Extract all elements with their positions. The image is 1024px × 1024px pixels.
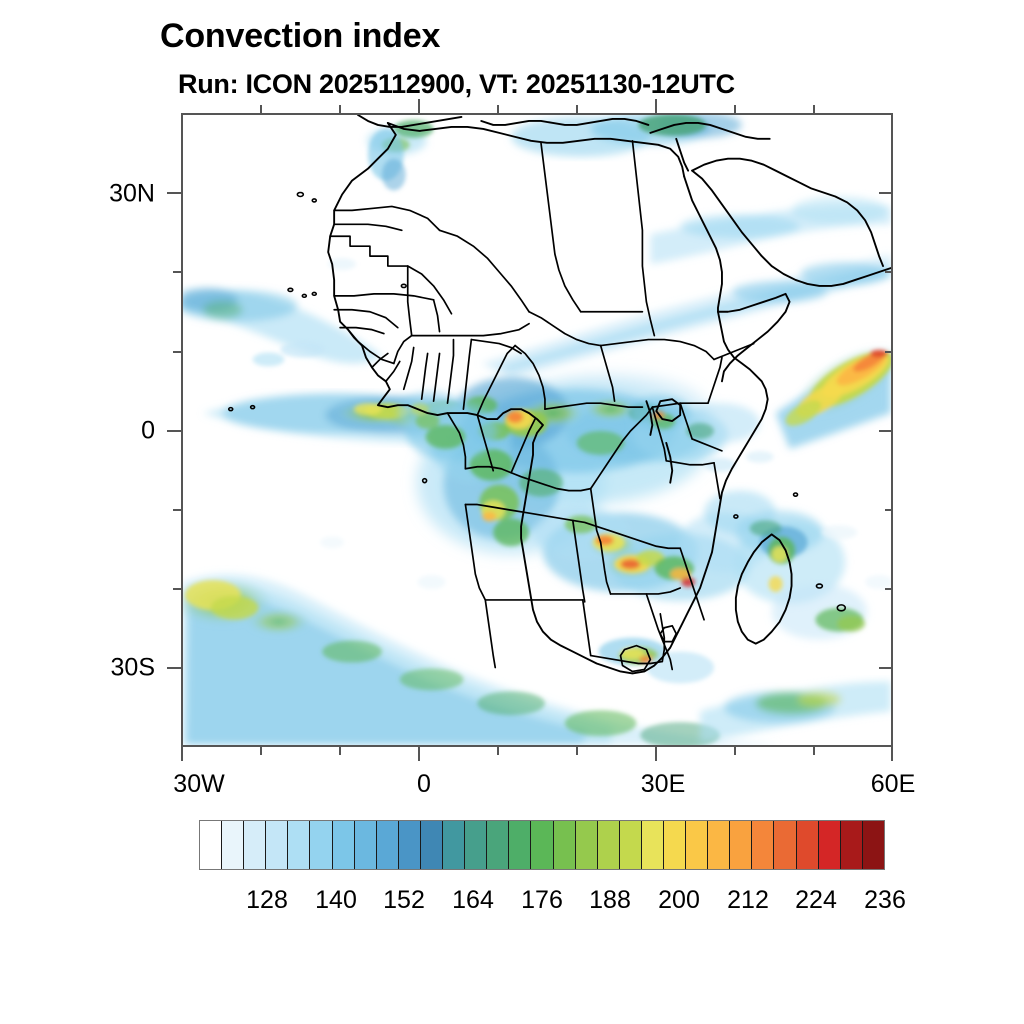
colorbar-cell-15 bbox=[531, 821, 553, 869]
colorbar-cell-21 bbox=[664, 821, 686, 869]
xtick-major-30W bbox=[181, 747, 183, 761]
xtick-minor-20E bbox=[576, 747, 578, 755]
xtick-minor-10W bbox=[339, 747, 341, 755]
colorbar-cell-28 bbox=[819, 821, 841, 869]
colorbar-label-152: 152 bbox=[383, 888, 425, 913]
colorbar-cell-7 bbox=[355, 821, 377, 869]
colorbar-label-224: 224 bbox=[795, 888, 837, 913]
xtick-top-10W bbox=[339, 105, 341, 113]
xaxis-label-30E: 30E bbox=[641, 772, 685, 797]
xtick-top-20E bbox=[576, 105, 578, 113]
ytick-right-10N bbox=[885, 351, 893, 353]
ytick-minor-20S bbox=[173, 588, 181, 590]
colorbar-cell-17 bbox=[576, 821, 598, 869]
page-subtitle: Run: ICON 2025112900, VT: 20251130-12UTC bbox=[178, 71, 735, 98]
yaxis-label-30N: 30N bbox=[40, 182, 155, 207]
colorbar-cell-23 bbox=[708, 821, 730, 869]
yaxis-label-0: 0 bbox=[40, 419, 155, 444]
yaxis-label-30S: 30S bbox=[40, 656, 155, 681]
colorbar-label-140: 140 bbox=[315, 888, 357, 913]
xaxis-label-60E: 60E bbox=[871, 772, 915, 797]
colorbar-cell-10 bbox=[421, 821, 443, 869]
colorbar-cell-0 bbox=[200, 821, 222, 869]
colorbar-cell-16 bbox=[554, 821, 576, 869]
ytick-right-20N bbox=[885, 271, 893, 273]
colorbar-cell-6 bbox=[333, 821, 355, 869]
colorbar-cell-26 bbox=[774, 821, 796, 869]
colorbar-label-128: 128 bbox=[246, 888, 288, 913]
figure-root: Convection index Run: ICON 2025112900, V… bbox=[0, 0, 1024, 1024]
ytick-right-20S bbox=[885, 588, 893, 590]
xtick-major-60E bbox=[891, 747, 893, 761]
colorbar-cell-22 bbox=[686, 821, 708, 869]
colorbar-cell-24 bbox=[730, 821, 752, 869]
colorbar-label-164: 164 bbox=[452, 888, 494, 913]
xtick-top-0 bbox=[418, 99, 420, 113]
colorbar-cell-18 bbox=[598, 821, 620, 869]
page-title: Convection index bbox=[160, 19, 440, 53]
colorbar-cell-19 bbox=[620, 821, 642, 869]
ytick-right-30S bbox=[879, 667, 893, 669]
ytick-minor-10S bbox=[173, 509, 181, 511]
colorbar-cell-14 bbox=[509, 821, 531, 869]
xtick-top-40E bbox=[734, 105, 736, 113]
ytick-minor-20N bbox=[173, 271, 181, 273]
xtick-minor-50E bbox=[813, 747, 815, 755]
xtick-minor-40E bbox=[734, 747, 736, 755]
ytick-right-10S bbox=[885, 509, 893, 511]
colorbar-cell-11 bbox=[443, 821, 465, 869]
colorbar-label-236: 236 bbox=[864, 888, 906, 913]
ytick-right-30N bbox=[879, 192, 893, 194]
map-canvas bbox=[183, 115, 891, 745]
colorbar-cell-25 bbox=[752, 821, 774, 869]
xtick-major-0 bbox=[418, 747, 420, 761]
colorbar-cell-8 bbox=[377, 821, 399, 869]
ytick-right-0 bbox=[879, 430, 893, 432]
colorbar-cell-13 bbox=[487, 821, 509, 869]
xtick-top-10E bbox=[497, 105, 499, 113]
colorbar-cell-29 bbox=[841, 821, 863, 869]
xaxis-label-30W: 30W bbox=[173, 772, 224, 797]
colorbar-cell-30 bbox=[863, 821, 884, 869]
colorbar-cell-20 bbox=[642, 821, 664, 869]
colorbar-cell-5 bbox=[310, 821, 332, 869]
xtick-top-50E bbox=[813, 105, 815, 113]
colorbar-cell-3 bbox=[266, 821, 288, 869]
colorbar-cell-4 bbox=[288, 821, 310, 869]
colorbar-cell-2 bbox=[244, 821, 266, 869]
colorbar-label-176: 176 bbox=[521, 888, 563, 913]
xtick-top-20W bbox=[260, 105, 262, 113]
xtick-minor-20W bbox=[260, 747, 262, 755]
colorbar-label-212: 212 bbox=[727, 888, 769, 913]
colorbar-cell-12 bbox=[465, 821, 487, 869]
xaxis-label-0: 0 bbox=[417, 772, 431, 797]
xtick-minor-10E bbox=[497, 747, 499, 755]
xtick-major-30E bbox=[655, 747, 657, 761]
ytick-major-0 bbox=[167, 430, 181, 432]
colorbar-label-188: 188 bbox=[589, 888, 631, 913]
colorbar-label-200: 200 bbox=[658, 888, 700, 913]
ytick-major-30N bbox=[167, 192, 181, 194]
colorbar-cell-1 bbox=[222, 821, 244, 869]
xtick-top-30E bbox=[655, 99, 657, 113]
colorbar[interactable] bbox=[199, 820, 885, 870]
colorbar-cell-9 bbox=[399, 821, 421, 869]
colorbar-cell-27 bbox=[797, 821, 819, 869]
ytick-major-30S bbox=[167, 667, 181, 669]
ytick-minor-10N bbox=[173, 351, 181, 353]
map-plot-area[interactable] bbox=[181, 113, 893, 747]
